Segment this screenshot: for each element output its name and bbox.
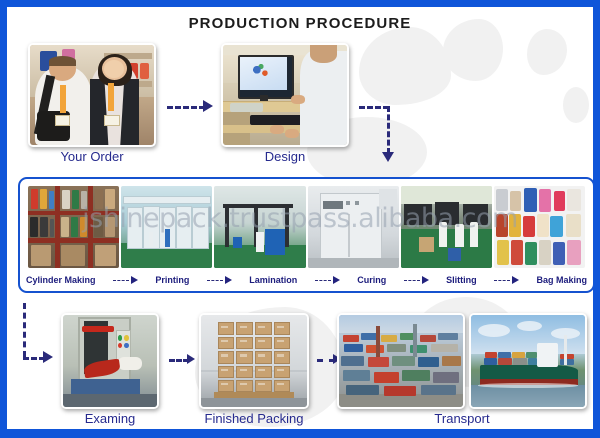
production-stages-labels: Cylinder Making Printing Lamination Curi… bbox=[26, 271, 587, 289]
stage-label-printing: Printing bbox=[155, 275, 189, 285]
photo-cargo-ship bbox=[471, 315, 585, 407]
step-caption-transport: Transport bbox=[337, 411, 587, 426]
arrow-band-to-examing-horizontal bbox=[23, 357, 45, 360]
infographic-canvas: PRODUCTION PROCEDURE bbox=[7, 7, 593, 429]
stage-separator-arrow bbox=[189, 276, 249, 284]
arrow-order-to-design-head-icon bbox=[203, 100, 213, 112]
photo-container-yard bbox=[339, 315, 463, 407]
arrow-design-to-band-horizontal bbox=[359, 106, 389, 109]
background-blob-icon bbox=[359, 27, 451, 105]
production-procedure-infographic: PRODUCTION PROCEDURE bbox=[0, 0, 600, 438]
step-photo-transport-cargo-ship bbox=[469, 313, 587, 409]
stage-photo-cylinder-making bbox=[28, 186, 119, 268]
step-photo-transport-container-yard bbox=[337, 313, 465, 409]
photo-cartons-stacked-on-pallet bbox=[201, 315, 307, 407]
stage-label-lamination: Lamination bbox=[249, 275, 297, 285]
stage-label-slitting: Slitting bbox=[446, 275, 477, 285]
step-caption-your-order: Your Order bbox=[28, 149, 156, 164]
step-photo-your-order bbox=[28, 43, 156, 147]
arrow-design-to-band-vertical bbox=[387, 106, 390, 154]
step-photo-design bbox=[221, 43, 349, 147]
stage-separator-arrow bbox=[477, 276, 537, 284]
photo-two-people-at-trade-show-booth bbox=[30, 45, 154, 145]
arrow-examing-to-packing-head-icon bbox=[187, 354, 195, 364]
stage-photo-printing bbox=[121, 186, 212, 268]
step-caption-design: Design bbox=[221, 149, 349, 164]
step-caption-examing: Examing bbox=[49, 411, 171, 426]
stage-photo-slitting bbox=[401, 186, 492, 268]
arrow-band-to-examing-head-icon bbox=[43, 351, 53, 363]
stage-label-bag-making: Bag Making bbox=[536, 275, 587, 285]
photo-designer-at-computer-workstation bbox=[223, 45, 347, 145]
stage-separator-arrow bbox=[297, 276, 357, 284]
stage-label-curing: Curing bbox=[357, 275, 386, 285]
photo-tensile-testing-machine bbox=[63, 315, 157, 407]
step-caption-finished-packing: Finished Packing bbox=[183, 411, 325, 426]
page-title: PRODUCTION PROCEDURE bbox=[7, 15, 593, 32]
background-blob-icon bbox=[527, 29, 567, 75]
arrow-design-to-band-head-icon bbox=[382, 152, 394, 162]
arrow-examing-to-packing bbox=[169, 359, 189, 362]
production-stages-thumbnails bbox=[28, 186, 585, 268]
step-photo-examing bbox=[61, 313, 159, 409]
step-photo-finished-packing bbox=[199, 313, 309, 409]
stage-label-cylinder-making: Cylinder Making bbox=[26, 275, 96, 285]
stage-photo-curing bbox=[308, 186, 399, 268]
stage-separator-arrow bbox=[386, 276, 446, 284]
arrow-order-to-design bbox=[167, 106, 205, 109]
stage-separator-arrow bbox=[96, 276, 156, 284]
production-stages-band: Cylinder Making Printing Lamination Curi… bbox=[18, 177, 593, 293]
stage-photo-bag-making bbox=[494, 186, 585, 268]
background-blob-icon bbox=[563, 87, 589, 123]
stage-photo-lamination bbox=[214, 186, 305, 268]
arrow-band-to-examing-vertical bbox=[23, 303, 26, 357]
